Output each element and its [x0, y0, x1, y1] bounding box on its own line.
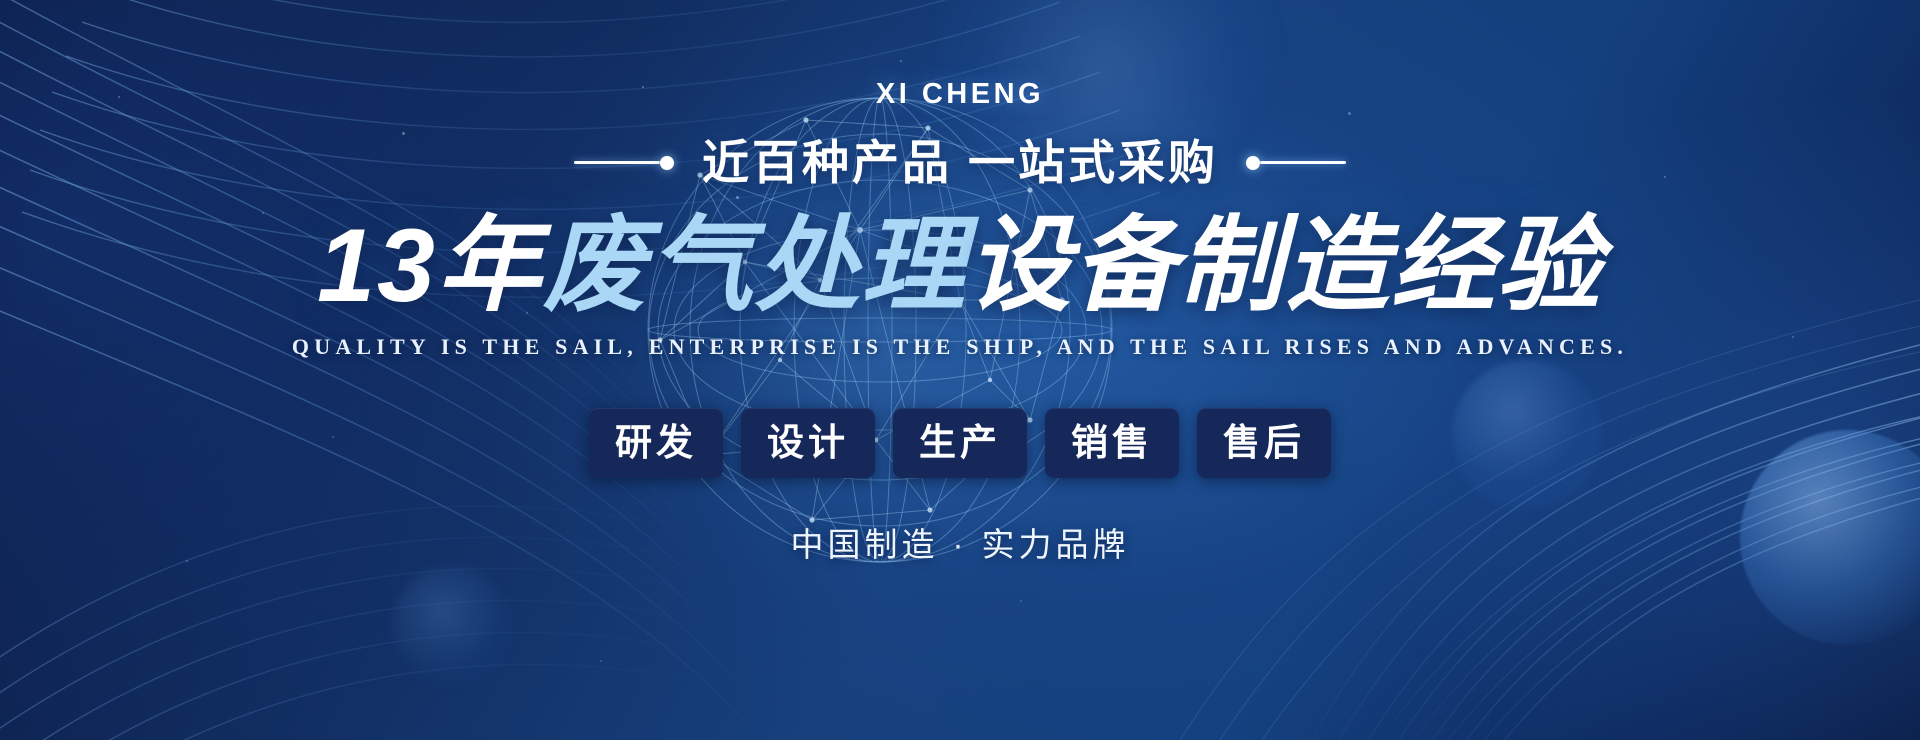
headline-rest: 设备制造经验 [967, 208, 1603, 324]
decorative-dot-right [1246, 156, 1260, 170]
decorative-bar-right [1260, 161, 1346, 164]
english-tagline: QUALITY IS THE SAIL, ENTERPRISE IS THE S… [292, 336, 1628, 358]
subtitle-row: 近百种产品 一站式采购 [574, 139, 1346, 186]
service-tag[interactable]: 售后 [1197, 408, 1331, 478]
decorative-line-left [574, 156, 674, 170]
decorative-dot-left [660, 156, 674, 170]
banner-headline: 13年废气处理设备制造经验 [317, 210, 1603, 322]
brand-latin-name: XI CHENG [876, 80, 1044, 109]
banner-footer-line: 中国制造·实力品牌 [791, 528, 1130, 561]
footer-text-right: 实力品牌 [982, 526, 1130, 563]
service-tag[interactable]: 研发 [589, 408, 723, 478]
headline-years: 13年 [317, 208, 543, 324]
service-tag[interactable]: 设计 [741, 408, 875, 478]
footer-text-left: 中国制造 [791, 526, 939, 563]
banner-subtitle: 近百种产品 一站式采购 [702, 139, 1218, 186]
service-tag[interactable]: 生产 [893, 408, 1027, 478]
service-tag[interactable]: 销售 [1045, 408, 1179, 478]
footer-separator-dot: · [939, 526, 982, 563]
decorative-line-right [1246, 156, 1346, 170]
headline-highlight: 废气处理 [543, 208, 967, 324]
promo-banner: XI CHENG 近百种产品 一站式采购 13年废气处理设备制造经验 QUALI… [0, 0, 1920, 740]
banner-content: XI CHENG 近百种产品 一站式采购 13年废气处理设备制造经验 QUALI… [0, 0, 1920, 740]
decorative-bar-left [574, 161, 660, 164]
service-tag-list: 研发 设计 生产 销售 售后 [589, 408, 1331, 478]
